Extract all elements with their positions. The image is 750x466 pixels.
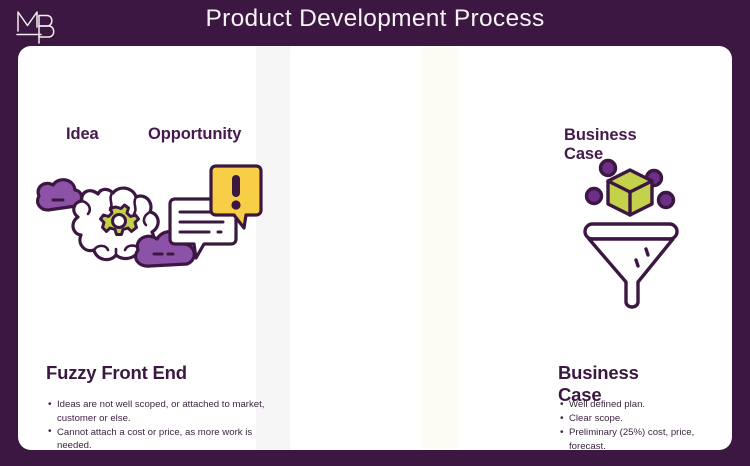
phase-label-opportunity: Opportunity (148, 125, 241, 144)
page-title: Product Development Process (0, 5, 750, 33)
infographic-root: Product Development Process Idea Opportu… (0, 0, 750, 466)
column-fuzzy-front-end: Idea Opportunity (18, 46, 258, 450)
section-title-fuzzy-front-end: Fuzzy Front End (46, 362, 187, 384)
column-business-case: Business Case (272, 46, 428, 450)
phase-label-idea: Idea (66, 125, 99, 144)
column-development-validation-launch: Development & Validation Launch (442, 46, 732, 450)
bullet-list-fuzzy-front-end: Ideas are not well scoped, or attached t… (48, 398, 274, 450)
header-bar: Product Development Process (0, 0, 750, 48)
list-item: Ideas are not well scoped, or attached t… (48, 398, 274, 425)
content-card: Idea Opportunity (18, 46, 732, 450)
list-item: Cannot attach a cost or price, as more w… (48, 426, 274, 450)
brain-gear-speech-illustration (26, 154, 264, 314)
